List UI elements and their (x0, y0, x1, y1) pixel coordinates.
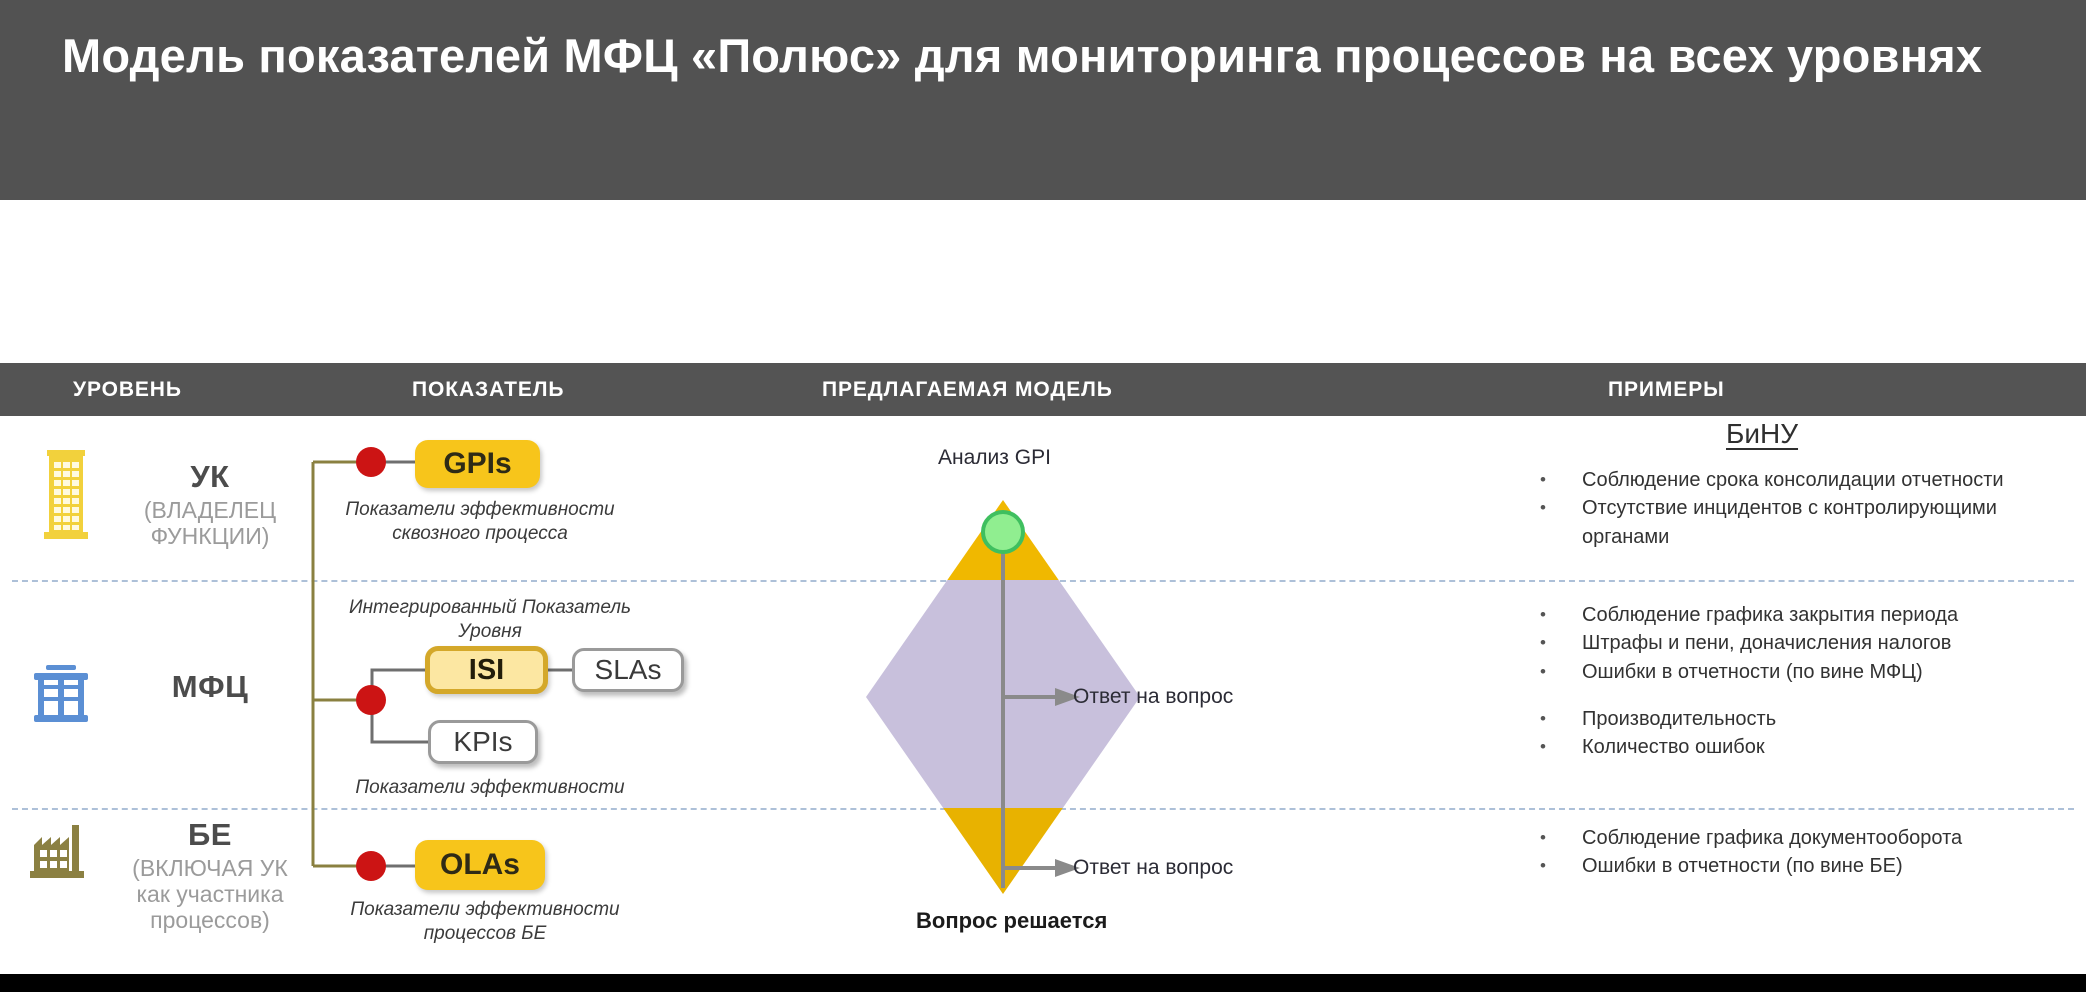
list-item: • Отсутствие инцидентов с контролирующим… (1540, 494, 2080, 551)
green-node-icon (983, 512, 1023, 552)
metric-box-olas[interactable]: OLAs (415, 840, 545, 890)
level-uk-title: УК (120, 460, 300, 494)
examples-group-uk: • Соблюдение срока консолидации отчетнос… (1540, 466, 2080, 551)
column-header-level: УРОВЕНЬ (73, 378, 182, 402)
office-tower-icon (38, 444, 94, 545)
level-be-title: БЕ (105, 818, 315, 852)
factory-icon (28, 823, 90, 886)
level-uk: УК (ВЛАДЕЛЕЦ ФУНКЦИИ) (120, 460, 300, 550)
examples-heading-binu: БиНУ (1726, 418, 1798, 450)
column-header-metric: ПОКАЗАТЕЛЬ (412, 378, 564, 402)
metric-box-kpis-label: KPIs (453, 726, 512, 758)
level-be: БЕ (ВКЛЮЧАЯ УК как участника процессов) (105, 818, 315, 933)
bullet-icon: • (1540, 494, 1582, 551)
model-answer-mid: Ответ на вопрос (1073, 685, 1233, 709)
metric-box-gpis-label: GPIs (443, 447, 511, 481)
level-mfc: МФЦ (120, 670, 300, 704)
metric-box-kpis[interactable]: KPIs (428, 720, 538, 764)
model-top-label: Анализ GPI (938, 446, 1051, 470)
level-mfc-title: МФЦ (120, 670, 300, 704)
column-header-model: ПРЕДЛАГАЕМАЯ МОДЕЛЬ (822, 378, 1113, 402)
bullet-icon: • (1540, 466, 1582, 494)
page-title: Модель показателей МФЦ «Полюс» для монит… (62, 28, 2022, 83)
bullet-icon: • (1540, 601, 1582, 629)
list-item: • Производительность (1540, 705, 2080, 733)
metric-box-olas-label: OLAs (440, 848, 520, 882)
list-item: • Соблюдение графика закрытия периода (1540, 601, 2080, 629)
bullet-icon: • (1540, 733, 1582, 761)
examples-group-mfc-1: • Соблюдение графика закрытия периода • … (1540, 601, 2080, 686)
metric-box-isi[interactable]: ISI (425, 646, 548, 694)
metric-box-gpis[interactable]: GPIs (415, 440, 540, 488)
bullet-icon: • (1540, 658, 1582, 686)
node-dot-gpis (356, 447, 386, 477)
list-item: • Соблюдение срока консолидации отчетнос… (1540, 466, 2080, 494)
level-be-subtitle: (ВКЛЮЧАЯ УК как участника процессов) (105, 856, 315, 933)
metric-box-slas[interactable]: SLAs (572, 648, 684, 692)
list-item: • Штрафы и пени, доначисления налогов (1540, 629, 2080, 657)
bullet-icon: • (1540, 852, 1582, 880)
node-dot-olas (356, 851, 386, 881)
bullet-icon: • (1540, 824, 1582, 852)
model-answer-bottom: Ответ на вопрос (1073, 856, 1233, 880)
metric-caption-kpis: Показатели эффективности (340, 776, 640, 800)
bullet-icon: • (1540, 705, 1582, 733)
list-item: • Соблюдение графика документооборота (1540, 824, 2080, 852)
row-divider-mfc-be (12, 808, 2074, 810)
examples-group-be: • Соблюдение графика документооборота • … (1540, 824, 2080, 881)
metric-box-slas-label: SLAs (595, 654, 662, 686)
list-item: • Ошибки в отчетности (по вине МФЦ) (1540, 658, 2080, 686)
node-dot-mfc (356, 685, 386, 715)
bottom-bar (0, 974, 2086, 992)
metric-caption-olas: Показатели эффективности процессов БЕ (335, 898, 635, 947)
model-bottom-label: Вопрос решается (916, 908, 1107, 934)
column-header-examples: ПРИМЕРЫ (1608, 378, 1725, 402)
metric-box-isi-label: ISI (469, 654, 504, 687)
list-item: • Количество ошибок (1540, 733, 2080, 761)
list-item: • Ошибки в отчетности (по вине БЕ) (1540, 852, 2080, 880)
examples-group-mfc-2: • Производительность • Количество ошибок (1540, 705, 2080, 762)
bullet-icon: • (1540, 629, 1582, 657)
institution-building-icon (30, 663, 92, 734)
level-uk-subtitle: (ВЛАДЕЛЕЦ ФУНКЦИИ) (120, 498, 300, 550)
row-divider-uk-mfc (12, 580, 2074, 582)
metric-caption-gpis: Показатели эффективности сквозного проце… (330, 498, 630, 547)
